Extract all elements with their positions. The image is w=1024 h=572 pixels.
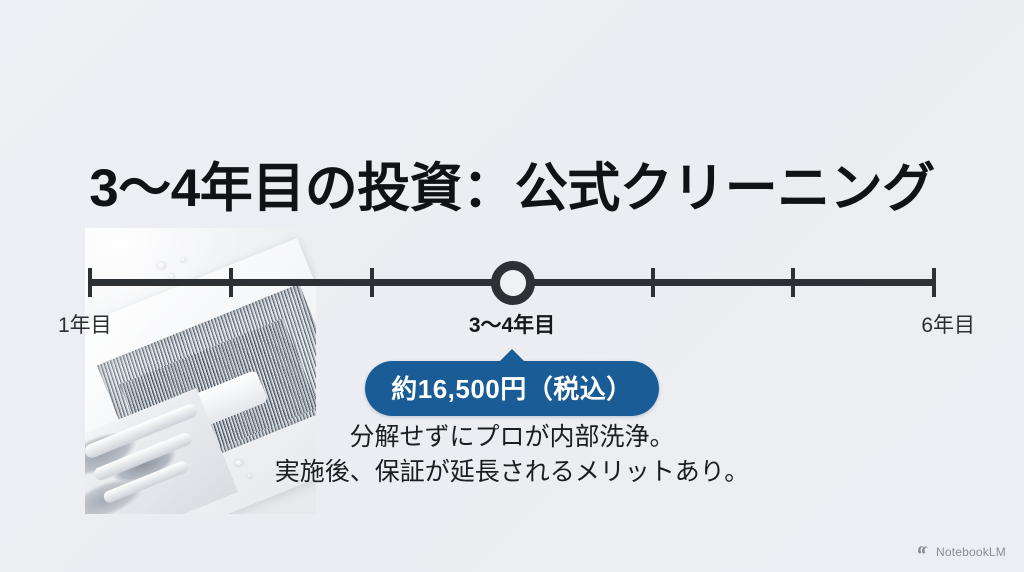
body-copy: 分解せずにプロが内部洗浄。 実施後、保証が延長されるメリットあり。	[0, 420, 1024, 490]
watermark: NotebookLM	[917, 543, 1006, 561]
watermark-label: NotebookLM	[936, 545, 1006, 559]
timeline-label-end: 6年目	[921, 309, 975, 339]
price-badge-container: 約16,500円（税込）	[0, 349, 1024, 416]
photo-water-droplet	[181, 258, 186, 262]
photo-water-droplet	[145, 280, 150, 284]
slide-canvas: 3〜4年目の投資：公式クリーニング 1年目 3〜4年目 6年目	[0, 0, 1024, 572]
body-copy-line-2: 実施後、保証が延長されるメリットあり。	[0, 455, 1024, 490]
photo-water-droplet	[157, 262, 166, 269]
page-title: 3〜4年目の投資：公式クリーニング	[0, 146, 1024, 222]
status-badge: 約16,500円（税込）	[365, 361, 659, 416]
timeline-tick	[932, 268, 936, 297]
body-copy-line-1: 分解せずにプロが内部洗浄。	[0, 420, 1024, 455]
timeline-current-marker	[491, 261, 535, 305]
timeline-tick	[651, 268, 655, 297]
timeline-tick	[791, 268, 795, 297]
timeline-tick	[370, 268, 374, 297]
photo-water-droplet	[169, 274, 175, 279]
notebooklm-spark-icon	[917, 543, 931, 561]
